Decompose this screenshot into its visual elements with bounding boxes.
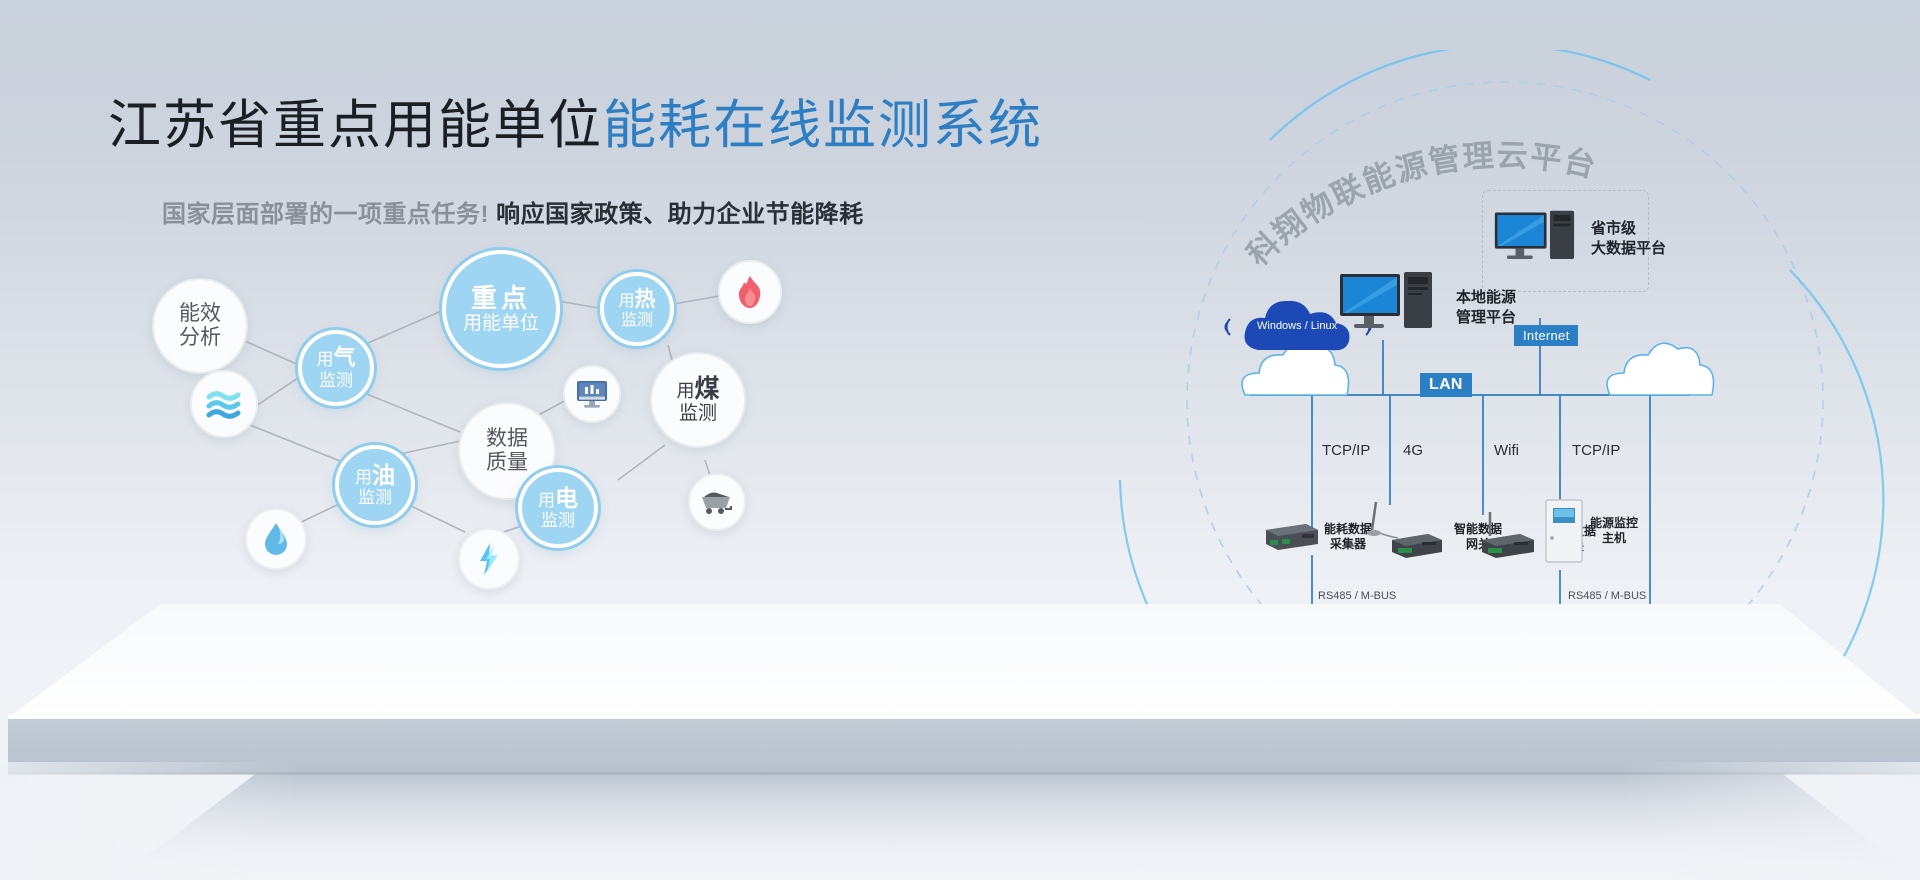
- device-label-line1: 能源监控: [1590, 516, 1638, 531]
- node-power-monitoring[interactable]: 用电 监测: [518, 468, 598, 548]
- node-label-line1: 用热: [618, 288, 655, 312]
- node-label-line1: 用气: [316, 346, 355, 371]
- node-energy-efficiency-analysis[interactable]: 能效 分析: [152, 278, 248, 374]
- cloud-bus-right: [1607, 343, 1713, 395]
- water-drop-glyph: [262, 522, 290, 556]
- node-label-line2: 监测: [541, 511, 575, 530]
- node-heat-monitoring[interactable]: 用热 监测: [600, 272, 674, 346]
- node-label-line2: 监测: [319, 371, 353, 390]
- protocol-label-4g: 4G: [1403, 442, 1423, 459]
- node-oil-monitoring[interactable]: 用油 监测: [335, 445, 415, 525]
- node-gas-monitoring[interactable]: 用气 监测: [298, 330, 374, 406]
- device-label-line2: 主机: [1590, 531, 1638, 546]
- protocol-label-tcpip-2: TCP/IP: [1572, 442, 1620, 459]
- steam-waves-icon[interactable]: [190, 370, 258, 438]
- coal-cart-icon[interactable]: [688, 473, 746, 531]
- subtitle-dark-part: 响应国家政策、助力企业节能降耗: [496, 201, 864, 228]
- protocol-label-tcpip-1: TCP/IP: [1322, 442, 1370, 459]
- cloud-os-label: Windows / Linux: [1257, 320, 1337, 332]
- province-computer-icon: [1493, 209, 1588, 271]
- province-platform-label-line2: 大数据平台: [1591, 239, 1666, 259]
- local-platform-label-line2: 管理平台: [1456, 308, 1516, 328]
- node-label-line2: 监测: [679, 403, 717, 424]
- internet-tag: Internet: [1514, 325, 1578, 346]
- province-platform-label: 省市级 大数据平台: [1591, 219, 1666, 258]
- control-cabinet-icon: [1542, 498, 1586, 564]
- flame-icon[interactable]: [718, 260, 782, 324]
- smart-gateway-wifi-icon: [1474, 510, 1546, 562]
- page-title: 江苏省重点用能单位能耗在线监测系统: [108, 96, 1043, 157]
- steam-waves-glyph: [204, 389, 244, 419]
- subtitle-grey-part: 国家层面部署的一项重点任务!: [162, 201, 489, 228]
- data-collector-icon: [1262, 520, 1322, 554]
- coal-cart-glyph: [699, 488, 735, 516]
- node-label-line2: 分析: [179, 326, 221, 350]
- title-blue-part: 能耗在线监测系统: [603, 96, 1043, 155]
- province-platform-label-line1: 省市级: [1591, 219, 1666, 239]
- smart-gateway-antenna-icon: [1362, 500, 1452, 560]
- title-dark-part: 江苏省重点用能单位: [108, 96, 603, 155]
- lan-tag: LAN: [1420, 373, 1472, 397]
- node-label-line1: 能效: [179, 302, 221, 326]
- lightning-bolt-glyph: [476, 542, 502, 576]
- local-platform-label: 本地能源 管理平台: [1456, 288, 1516, 327]
- node-key-energy-unit[interactable]: 重点 用能单位: [442, 250, 560, 368]
- node-coal-monitoring[interactable]: 用煤 监测: [650, 352, 746, 448]
- protocol-label-wifi: Wifi: [1494, 442, 1519, 459]
- node-label-line2: 质量: [486, 451, 528, 475]
- node-label-line2: 用能单位: [463, 313, 539, 334]
- flame-glyph: [735, 275, 765, 309]
- node-label-line2: 监测: [358, 488, 392, 507]
- monitor-chart-icon[interactable]: [563, 365, 621, 423]
- desktop-computer-icon: [1338, 270, 1448, 342]
- node-label-line1: 数据: [486, 427, 528, 451]
- province-platform-box: 省市级 大数据平台: [1482, 190, 1649, 292]
- page-subtitle: 国家层面部署的一项重点任务! 响应国家政策、助力企业节能降耗: [162, 194, 864, 229]
- monitor-chart-glyph: [575, 379, 609, 409]
- hero-banner: 江苏省重点用能单位能耗在线监测系统 国家层面部署的一项重点任务! 响应国家政策、…: [0, 0, 1920, 880]
- water-drop-icon[interactable]: [245, 508, 307, 570]
- energy-network-diagram: 能效 分析 用气 监测 重点 用能单位 用热 监测: [120, 240, 920, 640]
- node-label-line2: 监测: [621, 312, 653, 330]
- node-label-line1: 用电: [538, 486, 578, 512]
- lightning-bolt-icon[interactable]: [458, 528, 520, 590]
- node-label-line1: 用煤: [676, 375, 719, 403]
- node-label-line1: 重点: [471, 284, 531, 313]
- wifi-signal-left-icon: [1216, 316, 1236, 338]
- node-label-line1: 用油: [355, 463, 395, 489]
- device-label: 能源监控 主机: [1590, 516, 1638, 546]
- display-pedestal: [0, 592, 1920, 880]
